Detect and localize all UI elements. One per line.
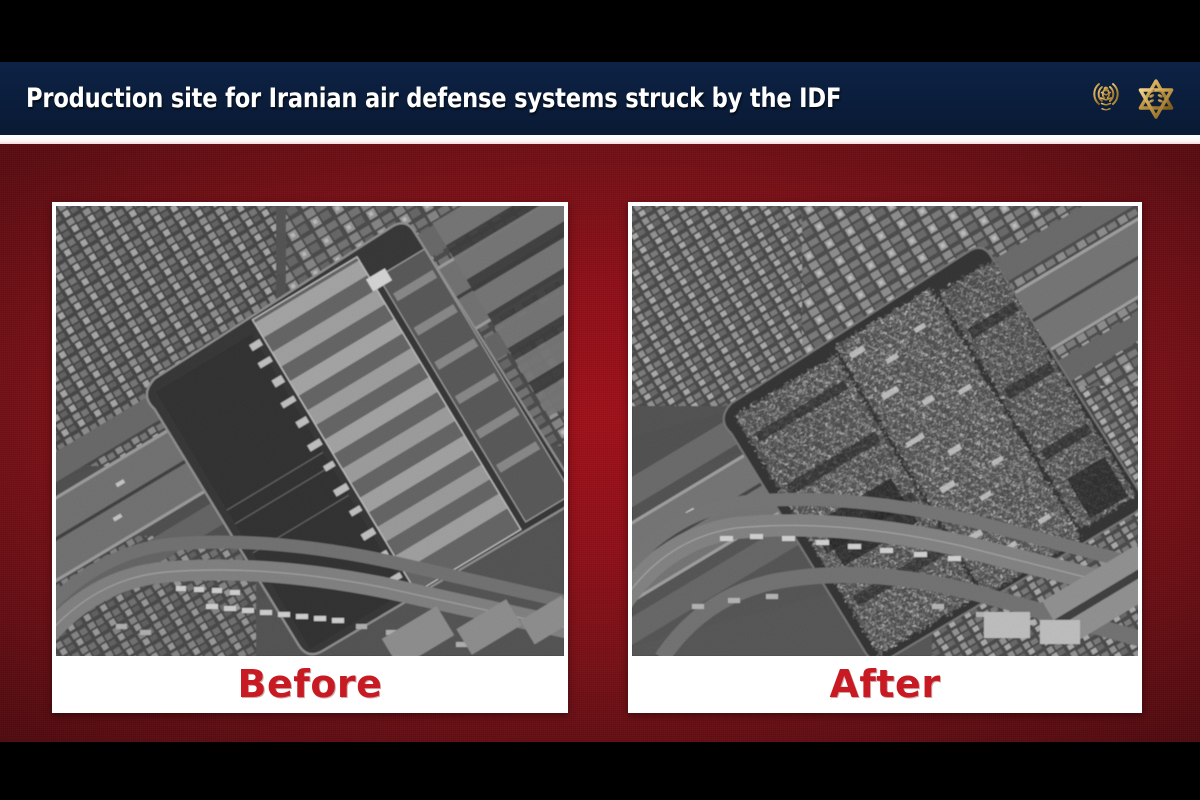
after-caption: After [632,658,1138,709]
satellite-image-before [56,206,564,656]
idf-spokesperson-unit-emblem-icon [1086,77,1126,121]
header-bar: Production site for Iranian air defense … [0,62,1200,135]
after-caption-text: After [829,662,940,706]
before-panel: Before [52,202,568,713]
satellite-image-after [632,206,1138,656]
page-title: Production site for Iranian air defense … [26,83,1003,114]
before-caption: Before [56,658,564,709]
letterbox-top [0,0,1200,62]
slide-root: Production site for Iranian air defense … [0,0,1200,800]
letterbox-bottom [0,742,1200,800]
header-separator [0,135,1200,144]
after-panel: After [628,202,1142,713]
idf-emblem-icon [1134,77,1178,121]
header-logos [1086,77,1178,121]
before-caption-text: Before [238,662,383,706]
